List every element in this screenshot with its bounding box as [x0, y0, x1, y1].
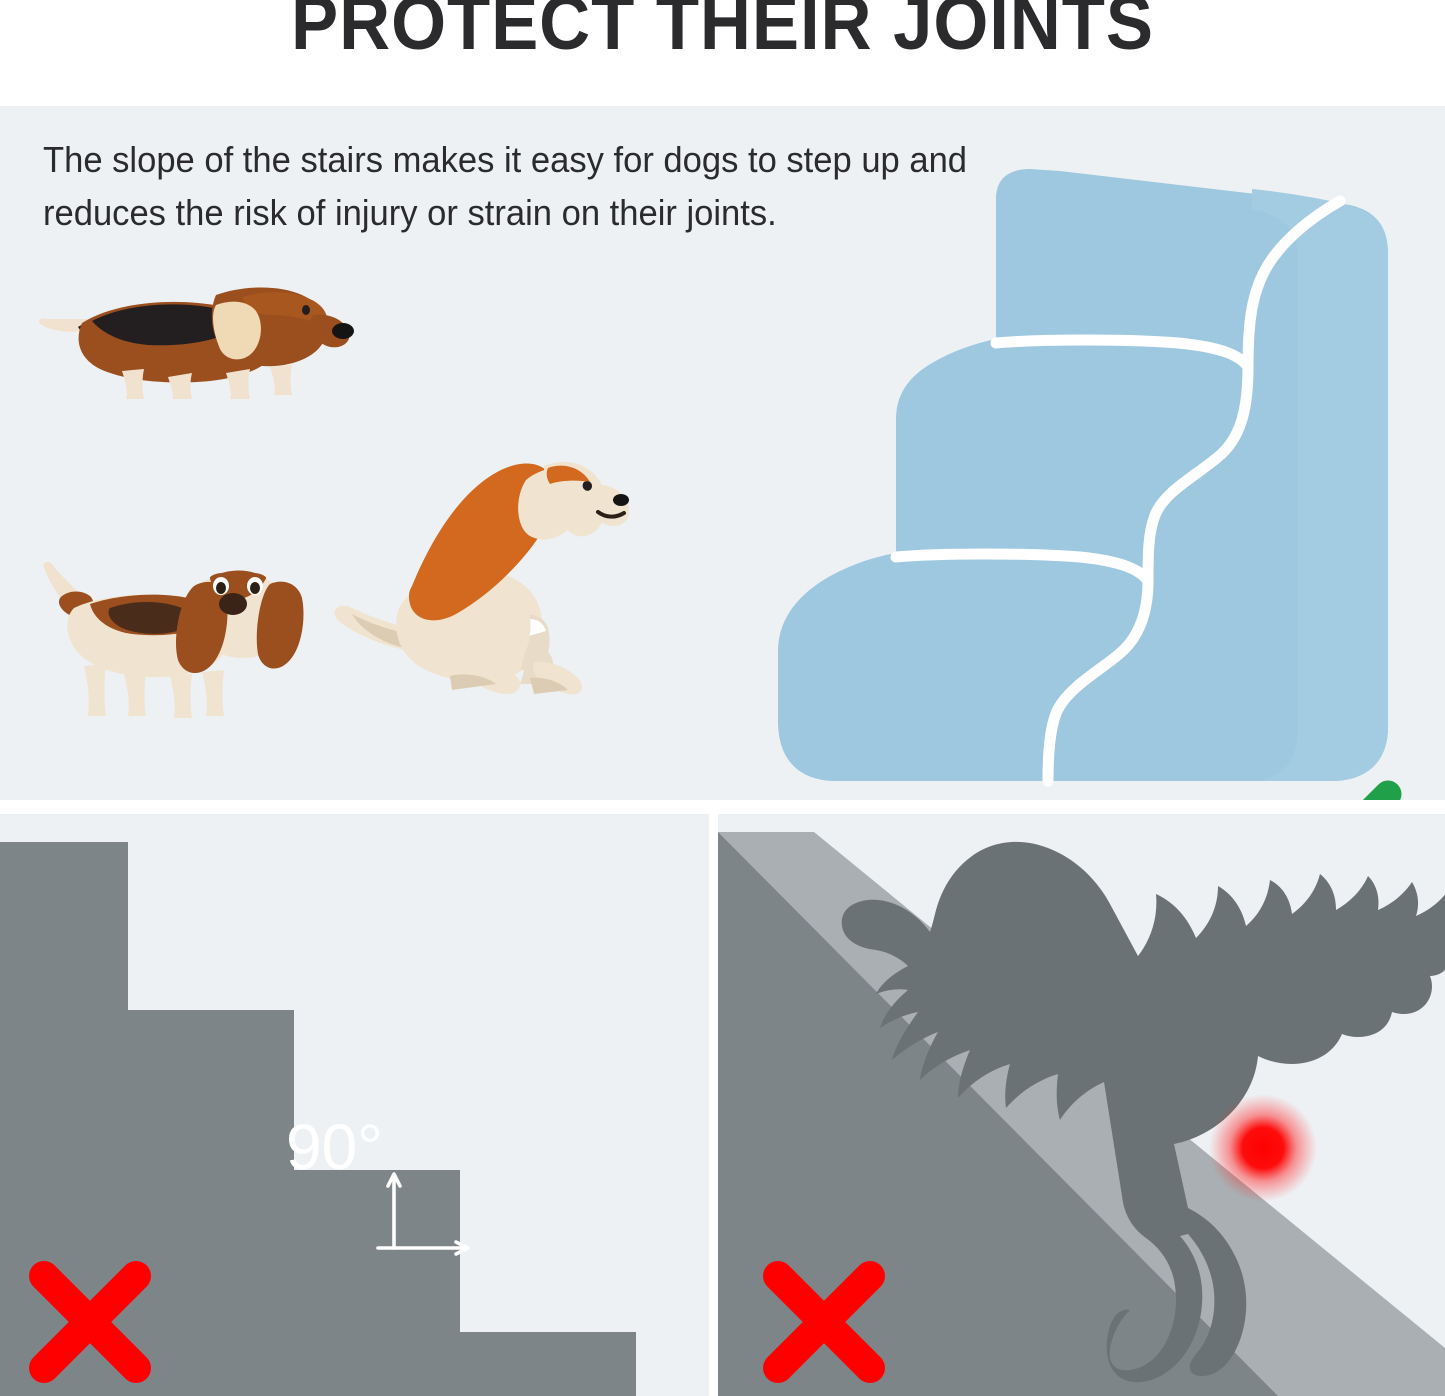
- title-bar: PROTECT THEIR JOINTS: [0, 0, 1445, 104]
- steep-ramp-and-dog-diagram: [718, 814, 1445, 1396]
- angle-annotation-label: 90°: [286, 1110, 383, 1184]
- steep-stairs-diagram: [0, 814, 709, 1396]
- bottom-right-panel-steep-ramp: [718, 814, 1445, 1396]
- green-check-icon: [1252, 778, 1404, 800]
- infographic-root: PROTECT THEIR JOINTS The slope of the st…: [0, 0, 1445, 1396]
- red-pain-glow-icon: [1209, 1094, 1317, 1202]
- blue-foam-pet-stairs-illustration: [700, 161, 1400, 796]
- dachshund-dog-icon: [30, 261, 360, 406]
- top-panel-recommended: The slope of the stairs makes it easy fo…: [0, 106, 1445, 800]
- basset-hound-dog-icon: [32, 534, 322, 729]
- bottom-left-panel-steep-stairs: [0, 814, 709, 1396]
- page-title: PROTECT THEIR JOINTS: [51, 0, 1395, 64]
- sitting-dog-bandaged-leg-icon: [330, 456, 650, 711]
